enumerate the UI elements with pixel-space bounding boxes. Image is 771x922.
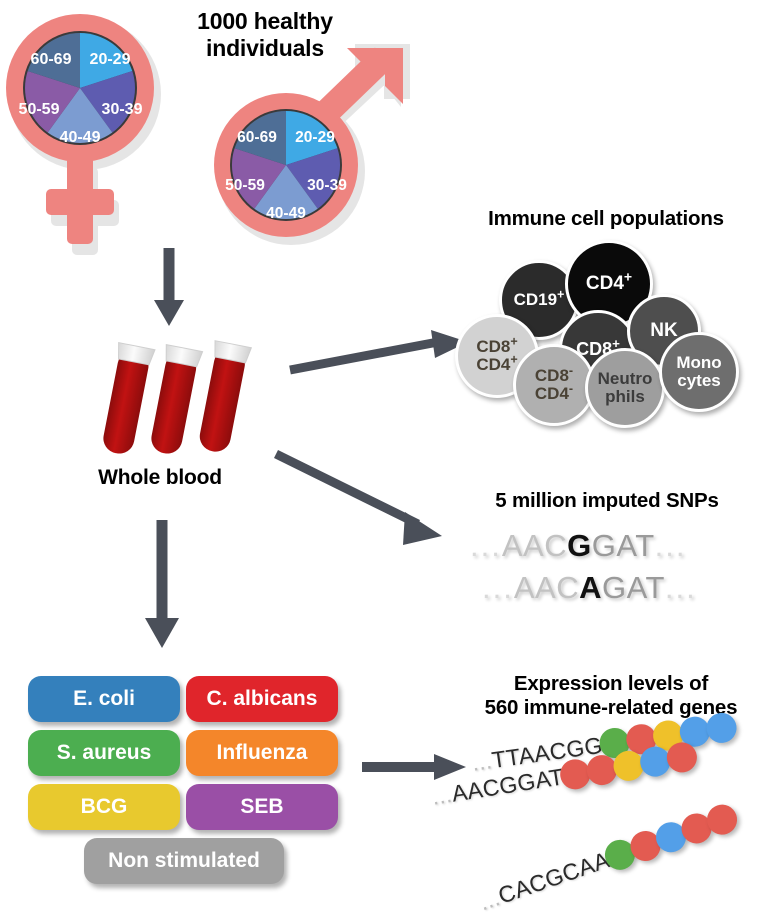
snp-sequence-row-2: ...AACAGAT...: [482, 570, 697, 606]
stimulus-label-e-coli: E. coli: [73, 687, 135, 711]
immune-cell-neutrophils[interactable]: Neutrophils: [585, 348, 665, 428]
stimulus-label-influenza: Influenza: [216, 741, 307, 765]
stimulus-label-bcg: BCG: [81, 795, 128, 819]
male-symbol: 20-29 30-39 40-49 50-59 60-69: [200, 45, 415, 250]
figure-canvas: 1000 healthy individuals Immune cell pop…: [0, 0, 771, 922]
snp-right-2: GAT: [602, 570, 665, 605]
male-age-pie: [232, 111, 340, 219]
expression-strand-2-sequence: AACGGAT: [450, 763, 566, 806]
snp-suffix-1: ...: [655, 528, 687, 563]
immune-cell-label-nk: NK: [650, 321, 677, 341]
snp-variant-1: G: [567, 528, 592, 563]
expression-strand-3-sequence: CACGCAA: [495, 846, 613, 908]
expression-strand-3-text: ...CACGCAA: [476, 846, 613, 916]
immune-cell-label-cd4: CD4+: [586, 274, 632, 294]
snp-prefix-1: ...: [470, 528, 502, 563]
stimulus-label-non-stimulated: Non stimulated: [108, 849, 260, 873]
expression-bead: [704, 711, 738, 745]
section-title-immune-cells: Immune cell populations: [450, 207, 762, 231]
snp-sequences: ...AACGGAT... ...AACAGAT...: [470, 528, 760, 618]
stimulus-label-s-aureus: S. aureus: [57, 741, 152, 765]
expression-strand-3: ...CACGCAA: [475, 801, 741, 918]
immune-cell-cd8neg-cd4neg[interactable]: CD8-CD4-: [513, 344, 595, 426]
expression-title-line-1: Expression levels of: [455, 672, 767, 696]
stimulus-box-bcg[interactable]: BCG: [28, 784, 180, 830]
snp-sequence-row-1: ...AACGGAT...: [470, 528, 687, 564]
immune-cell-monocytes[interactable]: Monocytes: [659, 332, 739, 412]
immune-cell-label-cd19: CD19+: [514, 291, 565, 309]
stimulus-label-seb: SEB: [240, 795, 283, 819]
arrow-blood-to-snps: [274, 452, 460, 552]
immune-cell-label-neutrophils: Neutrophils: [598, 370, 653, 405]
stimulus-box-influenza[interactable]: Influenza: [186, 730, 338, 776]
snp-left-1: AAC: [502, 528, 567, 563]
stimulus-box-c-albicans[interactable]: C. albicans: [186, 676, 338, 722]
stimulus-box-non-stimulated[interactable]: Non stimulated: [84, 838, 284, 884]
stimulus-box-e-coli[interactable]: E. coli: [28, 676, 180, 722]
stimulus-box-seb[interactable]: SEB: [186, 784, 338, 830]
arrow-cohort-to-blood: [150, 248, 190, 326]
snp-right-1: GAT: [592, 528, 655, 563]
label-whole-blood: Whole blood: [60, 466, 260, 490]
snp-left-2: AAC: [514, 570, 579, 605]
stimulus-label-c-albicans: C. albicans: [207, 687, 318, 711]
stimuli-panel: E. coli C. albicans S. aureus Influenza …: [28, 676, 348, 896]
snp-prefix-2: ...: [482, 570, 514, 605]
blood-tube-2: [146, 345, 203, 457]
female-crossbar: [46, 189, 114, 215]
expression-bead: [665, 740, 699, 774]
immune-cell-label-cd8neg-cd4neg: CD8-CD4-: [535, 367, 573, 402]
blood-tubes: [96, 334, 286, 464]
snp-variant-2: A: [579, 570, 602, 605]
immune-cell-cluster: CD19+ CD4+ CD8+CD4+ CD8+ NK CD8-CD4- Neu…: [455, 240, 765, 420]
arrow-blood-to-stimuli: [140, 520, 184, 648]
stimulus-box-s-aureus[interactable]: S. aureus: [28, 730, 180, 776]
immune-cell-label-cd8pos-cd4pos: CD8+CD4+: [476, 338, 517, 373]
arrow-blood-to-immune: [288, 330, 474, 376]
blood-tube-3: [194, 341, 251, 455]
gene-expression-strands: ...TTAACGG ...AACGGAT ...CACGCAA: [450, 720, 770, 920]
blood-tube-1: [98, 343, 155, 457]
section-title-snps: 5 million imputed SNPs: [452, 489, 762, 513]
female-symbol: 20-29 30-39 40-49 50-59 60-69: [6, 6, 196, 256]
snp-suffix-2: ...: [665, 570, 697, 605]
immune-cell-label-monocytes: Monocytes: [676, 354, 721, 389]
female-age-pie: [25, 33, 135, 143]
